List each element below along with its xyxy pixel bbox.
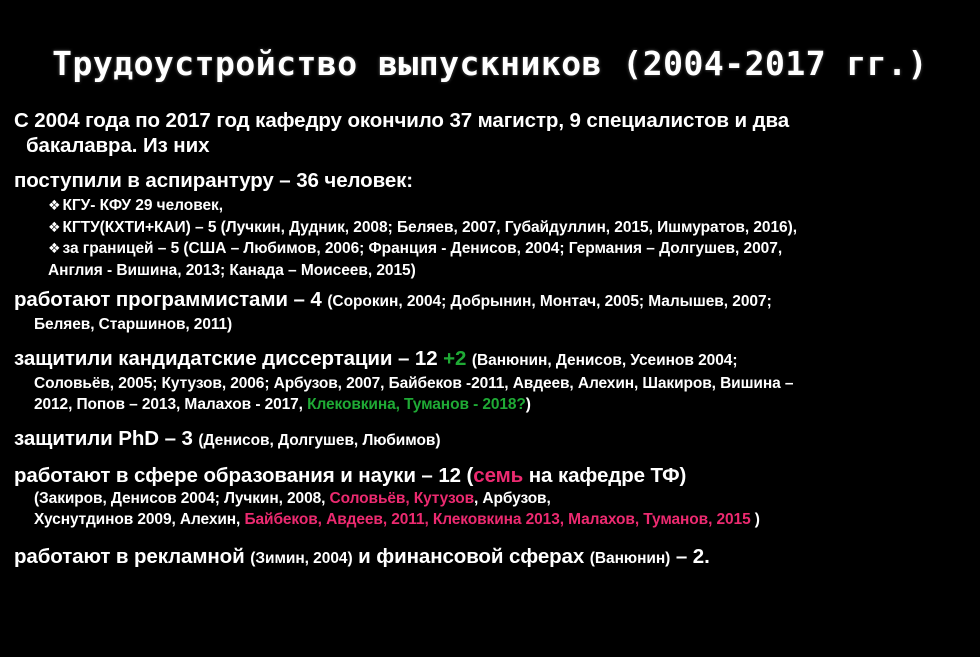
list-item: ❖КГТУ(КХТИ+КАИ) – 5 (Лучкин, Дудник, 200… [14, 217, 972, 239]
detail-green-run: Клековкина, Туманов - 2018? [307, 396, 526, 413]
section-heading-postgraduate: поступили в аспирантуру – 36 человек: [14, 168, 972, 193]
section-detail: (Сорокин, 2004; Добрынин, Монтач, 2005; … [327, 293, 771, 310]
slide-body: С 2004 года по 2017 год кафедру окончило… [14, 108, 972, 571]
section-heading-advertising-finance: работают в рекламной (Зимин, 2004) и фин… [14, 544, 972, 571]
diamond-bullet-icon: ❖ [48, 219, 63, 235]
section-label: защитили кандидатские диссертации – 12 [14, 347, 438, 370]
section-heading-programmers: работают программистами – 4 (Сорокин, 20… [14, 287, 972, 336]
detail-pink-run: Байбеков, Авдеев, 2011, Клековкина 2013,… [244, 511, 750, 528]
list-item: ❖за границей – 5 (США – Любимов, 2006; Ф… [14, 238, 972, 260]
detail-white-run-a: (Закиров, Денисов 2004; Лучкин, 2008, [34, 490, 330, 507]
section-label-highlight: семь [473, 464, 523, 487]
section-detail-line-3: 2012, Попов – 2013, Малахов - 2017, Клек… [14, 394, 972, 416]
list-item-continuation: Англия - Вишина, 2013; Канада – Моисеев,… [14, 260, 972, 282]
section-detail-b: (Ванюнин) [590, 550, 671, 567]
section-detail-a: (Зимин, 2004) [250, 550, 352, 567]
section-detail: (Ванюнин, Денисов, Усеинов 2004; [472, 352, 738, 369]
presentation-slide: Трудоустройство выпускников (2004-2017 г… [0, 0, 980, 657]
section-detail-line-2: Хуснутдинов 2009, Алехин, Байбеков, Авде… [14, 509, 972, 531]
section-heading-phd: защитили PhD – 3 (Денисов, Долгушев, Люб… [14, 426, 972, 453]
section-heading-education-science: работают в сфере образования и науки – 1… [14, 463, 972, 531]
section-detail-line-2: Соловьёв, 2005; Кутузов, 2006; Арбузов, … [14, 373, 972, 395]
detail-tail: ) [526, 396, 531, 413]
diamond-bullet-icon: ❖ [48, 240, 63, 256]
detail-white-run-b: ) [751, 511, 760, 528]
detail-white-run-b: , Арбузов, [474, 490, 551, 507]
list-item: ❖КГУ- КФУ 29 человек, [14, 195, 972, 217]
diamond-bullet-icon: ❖ [48, 197, 63, 213]
intro-paragraph: С 2004 года по 2017 год кафедру окончило… [14, 108, 972, 158]
section-plus-badge: +2 [443, 347, 466, 370]
section-label-a: работают в сфере образования и науки – 1… [14, 464, 473, 487]
section-label-b: на кафедре ТФ) [523, 464, 686, 487]
section-detail-continuation: Беляев, Старшинов, 2011) [14, 314, 972, 336]
slide-title: Трудоустройство выпускников (2004-2017 г… [0, 44, 980, 83]
intro-line-2: бакалавра. Из них [14, 133, 972, 158]
bullet-text: КГУ- КФУ 29 человек, [63, 197, 224, 214]
section-label-c: – 2. [670, 545, 709, 568]
detail-pink-run: Соловьёв, Кутузов [330, 490, 474, 507]
section-detail-line-1: (Закиров, Денисов 2004; Лучкин, 2008, Со… [14, 488, 972, 510]
section-detail: (Денисов, Долгушев, Любимов) [198, 432, 440, 449]
detail-white-run: 2012, Попов – 2013, Малахов - 2017, [34, 396, 307, 413]
bullet-text-continuation: Англия - Вишина, 2013; Канада – Моисеев,… [48, 262, 416, 279]
section-label-b: и финансовой сферах [353, 545, 590, 568]
postgraduate-bullet-list: ❖КГУ- КФУ 29 человек, ❖КГТУ(КХТИ+КАИ) – … [14, 195, 972, 281]
intro-line-1: С 2004 года по 2017 год кафедру окончило… [14, 109, 789, 132]
bullet-text: КГТУ(КХТИ+КАИ) – 5 (Лучкин, Дудник, 2008… [63, 219, 797, 236]
section-label: защитили PhD – 3 [14, 427, 193, 450]
detail-white-run-a: Хуснутдинов 2009, Алехин, [34, 511, 244, 528]
bullet-text: за границей – 5 (США – Любимов, 2006; Фр… [63, 240, 783, 257]
section-label-a: работают в рекламной [14, 545, 250, 568]
section-label: работают программистами – 4 [14, 288, 322, 311]
section-heading-candidate-dissertations: защитили кандидатские диссертации – 12 +… [14, 346, 972, 416]
